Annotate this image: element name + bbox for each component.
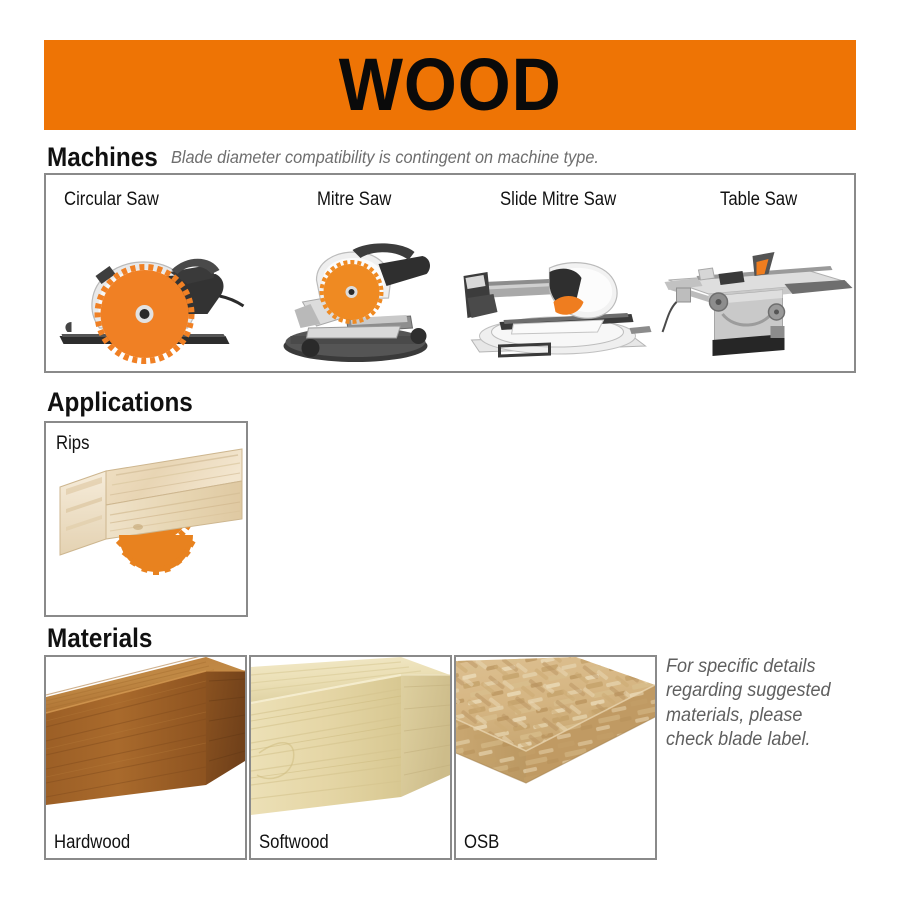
mitre-saw-icon [249, 240, 452, 365]
machine-circular-saw[interactable]: Circular Saw [46, 175, 249, 371]
table-saw-icon [655, 240, 858, 365]
machine-label-mitre-saw: Mitre Saw [317, 189, 391, 211]
machines-note: Blade diameter compatibility is continge… [171, 147, 599, 168]
hardwood-swatch-icon [46, 657, 245, 822]
machine-slide-mitre-saw[interactable]: Slide Mitre Saw [452, 175, 655, 371]
machine-label-table-saw: Table Saw [720, 189, 797, 211]
wood-spec-sheet: WOOD Machines Blade diameter compatibili… [0, 0, 900, 900]
machine-label-circular-saw: Circular Saw [64, 189, 159, 211]
machine-label-slide-mitre-saw: Slide Mitre Saw [500, 189, 616, 211]
softwood-swatch-icon [251, 657, 450, 822]
circular-saw-icon [46, 240, 249, 365]
applications-heading: Applications [47, 387, 193, 418]
slide-mitre-saw-icon [452, 240, 655, 365]
material-label-hardwood: Hardwood [54, 832, 130, 854]
material-panel-softwood[interactable]: Softwood [249, 655, 452, 860]
material-label-softwood: Softwood [259, 832, 329, 854]
material-panel-hardwood[interactable]: Hardwood [44, 655, 247, 860]
application-label-rips: Rips [56, 433, 89, 455]
machines-heading: Machines [47, 142, 158, 173]
application-panel-rips[interactable]: Rips [44, 421, 248, 617]
osb-swatch-icon [456, 657, 655, 822]
page-title: WOOD [338, 48, 561, 122]
machine-mitre-saw[interactable]: Mitre Saw [249, 175, 452, 371]
header-band: WOOD [44, 40, 856, 130]
machines-panel: Circular Saw [44, 173, 856, 373]
machine-table-saw[interactable]: Table Saw [655, 175, 858, 371]
materials-note: For specific details regarding suggested… [666, 655, 847, 752]
materials-heading: Materials [47, 623, 152, 654]
material-panel-osb[interactable]: OSB [454, 655, 657, 860]
material-label-osb: OSB [464, 832, 499, 854]
